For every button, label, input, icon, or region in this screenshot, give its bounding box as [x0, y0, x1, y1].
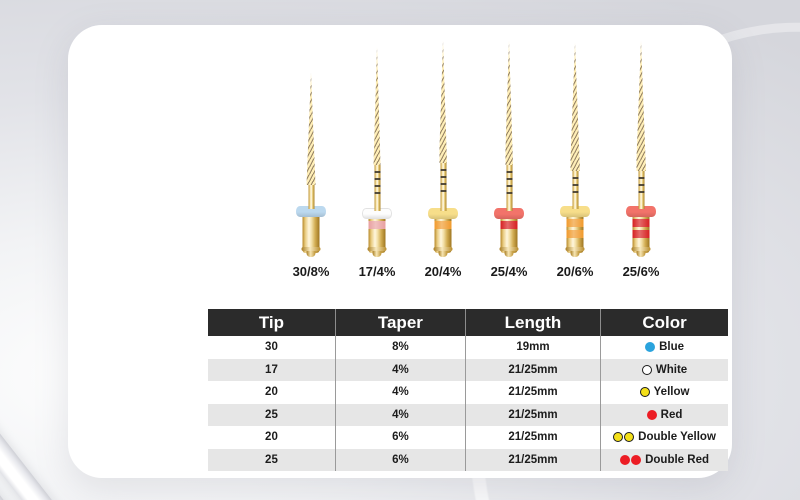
color-swatch-group: Red [601, 409, 728, 421]
color-dots [645, 342, 655, 352]
column-header-length: Length [465, 309, 600, 336]
cutting-flutes [570, 43, 580, 171]
shaft-body [638, 171, 644, 209]
cell-color: Double Yellow [601, 426, 728, 449]
color-name-label: White [656, 364, 687, 376]
handle-collar [368, 247, 387, 251]
cell-taper: 6% [335, 449, 465, 472]
instrument-shaft [505, 41, 514, 211]
instrument-illustration-group: 30/8%17/4%20/4%25/4%20/6%25/6% [68, 25, 732, 257]
cell-tip: 30 [208, 336, 335, 359]
cell-tip: 25 [208, 404, 335, 427]
depth-marker-ring [572, 191, 578, 193]
cell-color: White [601, 359, 728, 382]
color-dot-icon [624, 432, 634, 442]
handle-collar [500, 247, 519, 251]
cell-color: Double Red [601, 449, 728, 472]
instrument-shaft [373, 47, 382, 211]
cell-tip: 17 [208, 359, 335, 382]
cell-taper: 4% [335, 359, 465, 382]
color-swatch-group: Blue [601, 341, 728, 353]
color-name-label: Blue [659, 341, 684, 353]
handle-knob [439, 250, 448, 257]
depth-marker-ring [572, 177, 578, 179]
instrument-label: 20/6% [557, 264, 594, 279]
handle-color-band [567, 230, 584, 238]
table-header-row: Tip Taper Length Color [208, 309, 728, 336]
cell-color: Yellow [601, 381, 728, 404]
depth-marker-ring [374, 178, 380, 180]
depth-marker-ring [506, 171, 512, 173]
instrument-label: 25/6% [623, 264, 660, 279]
product-card: 30/8%17/4%20/4%25/4%20/6%25/6% Tip Taper… [68, 25, 732, 478]
instrument-shaft [307, 73, 316, 209]
color-dots [620, 455, 641, 465]
handle-color-band [501, 221, 518, 229]
cell-taper: 4% [335, 404, 465, 427]
handle-collar [434, 247, 453, 251]
handle-knob [637, 250, 646, 257]
cell-length: 21/25mm [465, 426, 600, 449]
handle-knob [505, 250, 514, 257]
color-name-label: Double Red [645, 454, 709, 466]
color-swatch-group: White [601, 364, 728, 376]
instrument-label: 25/4% [491, 264, 528, 279]
table-row: 254%21/25mmRed [208, 404, 728, 427]
color-dots [613, 432, 634, 442]
shaft-body [572, 171, 578, 209]
depth-marker-ring [506, 178, 512, 180]
instrument-shaft [637, 41, 646, 209]
table-row: 308%19mmBlue [208, 336, 728, 359]
depth-marker-ring [638, 184, 644, 186]
color-dot-icon [631, 455, 641, 465]
specification-table: Tip Taper Length Color 308%19mmBlue174%2… [208, 309, 728, 471]
table-row: 174%21/25mmWhite [208, 359, 728, 382]
cell-length: 21/25mm [465, 381, 600, 404]
handle-color-band [567, 219, 584, 227]
color-dot-icon [642, 365, 652, 375]
handle-color-band [435, 221, 452, 229]
depth-marker-ring [374, 185, 380, 187]
table-row: 204%21/25mmYellow [208, 381, 728, 404]
column-header-taper: Taper [335, 309, 465, 336]
instrument-label: 20/4% [425, 264, 462, 279]
color-dot-icon [645, 342, 655, 352]
handle-color-band [633, 230, 650, 238]
cell-tip: 25 [208, 449, 335, 472]
color-dot-icon [647, 410, 657, 420]
depth-marker-ring [374, 192, 380, 194]
cutting-flutes [636, 41, 646, 171]
depth-marker-ring [572, 184, 578, 186]
cell-color: Blue [601, 336, 728, 359]
depth-marker-ring [440, 169, 446, 171]
color-dots [642, 365, 652, 375]
instrument-label: 30/8% [293, 264, 330, 279]
instrument-shaft [571, 43, 580, 209]
color-dot-icon [640, 387, 650, 397]
cell-taper: 8% [335, 336, 465, 359]
column-header-color: Color [601, 309, 728, 336]
handle-knob [373, 250, 382, 257]
color-swatch-group: Yellow [601, 386, 728, 398]
cutting-flutes [505, 41, 513, 165]
depth-marker-ring [374, 171, 380, 173]
shaft-body [440, 163, 446, 211]
cell-length: 21/25mm [465, 404, 600, 427]
cutting-flutes [439, 41, 447, 163]
cutting-flutes [307, 73, 316, 185]
handle-collar [632, 247, 651, 251]
cutting-flutes [374, 47, 381, 165]
column-header-tip: Tip [208, 309, 335, 336]
handle-color-band [633, 219, 650, 227]
depth-marker-ring [506, 185, 512, 187]
decorative-tube [0, 0, 65, 500]
depth-marker-ring [440, 183, 446, 185]
color-swatch-group: Double Yellow [601, 431, 728, 443]
shaft-body [506, 165, 512, 211]
shaft-body [308, 185, 314, 209]
decorative-tube [0, 0, 35, 500]
table-row: 256%21/25mmDouble Red [208, 449, 728, 472]
table-body: 308%19mmBlue174%21/25mmWhite204%21/25mmY… [208, 336, 728, 471]
handle-knob [307, 250, 316, 257]
color-name-label: Red [661, 409, 683, 421]
handle-collar [302, 247, 321, 251]
cell-taper: 6% [335, 426, 465, 449]
color-dot-icon [613, 432, 623, 442]
color-swatch-group: Double Red [601, 454, 728, 466]
handle-color-band [369, 221, 386, 229]
cell-taper: 4% [335, 381, 465, 404]
depth-marker-ring [440, 176, 446, 178]
instrument-label: 17/4% [359, 264, 396, 279]
shaft-body [374, 165, 380, 211]
color-dots [647, 410, 657, 420]
depth-marker-ring [440, 190, 446, 192]
depth-marker-ring [638, 177, 644, 179]
depth-marker-ring [506, 192, 512, 194]
color-dot-icon [620, 455, 630, 465]
color-name-label: Double Yellow [638, 431, 716, 443]
handle-collar [566, 247, 585, 251]
table-row: 206%21/25mmDouble Yellow [208, 426, 728, 449]
handle-knob [571, 250, 580, 257]
cell-color: Red [601, 404, 728, 427]
cell-tip: 20 [208, 381, 335, 404]
color-dots [640, 387, 650, 397]
cell-length: 19mm [465, 336, 600, 359]
depth-marker-ring [638, 191, 644, 193]
cell-length: 21/25mm [465, 449, 600, 472]
instrument-shaft [439, 41, 448, 211]
cell-length: 21/25mm [465, 359, 600, 382]
cell-tip: 20 [208, 426, 335, 449]
color-name-label: Yellow [654, 386, 690, 398]
